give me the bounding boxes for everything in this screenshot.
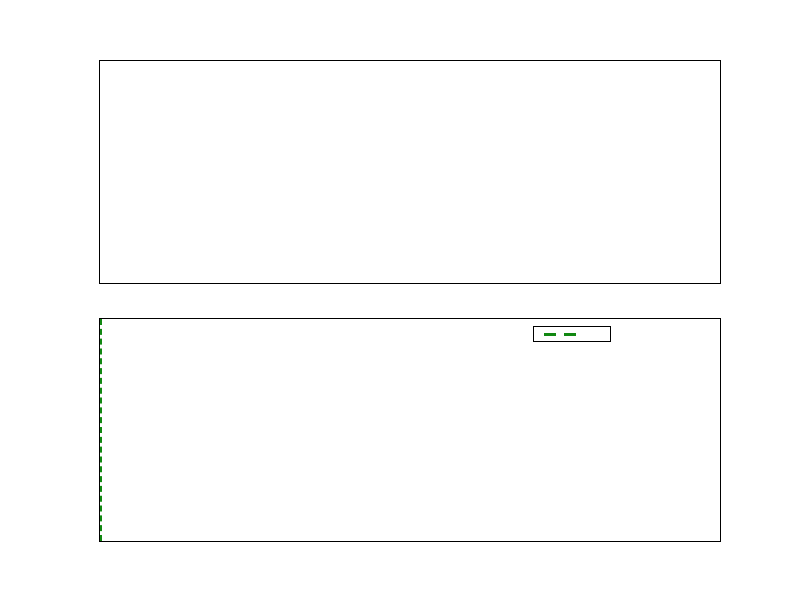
legend[interactable] bbox=[533, 326, 611, 342]
matplotlib-figure bbox=[0, 0, 800, 600]
bottom-panel-axes bbox=[99, 318, 721, 542]
cumulative-curve bbox=[100, 319, 720, 541]
histogram-plot-area bbox=[100, 61, 720, 283]
top-panel-axes bbox=[99, 60, 721, 284]
mag-limit-dashed-icon bbox=[544, 333, 584, 335]
cumulative-plot-area bbox=[100, 319, 720, 541]
mag-limit-vline bbox=[100, 319, 102, 541]
